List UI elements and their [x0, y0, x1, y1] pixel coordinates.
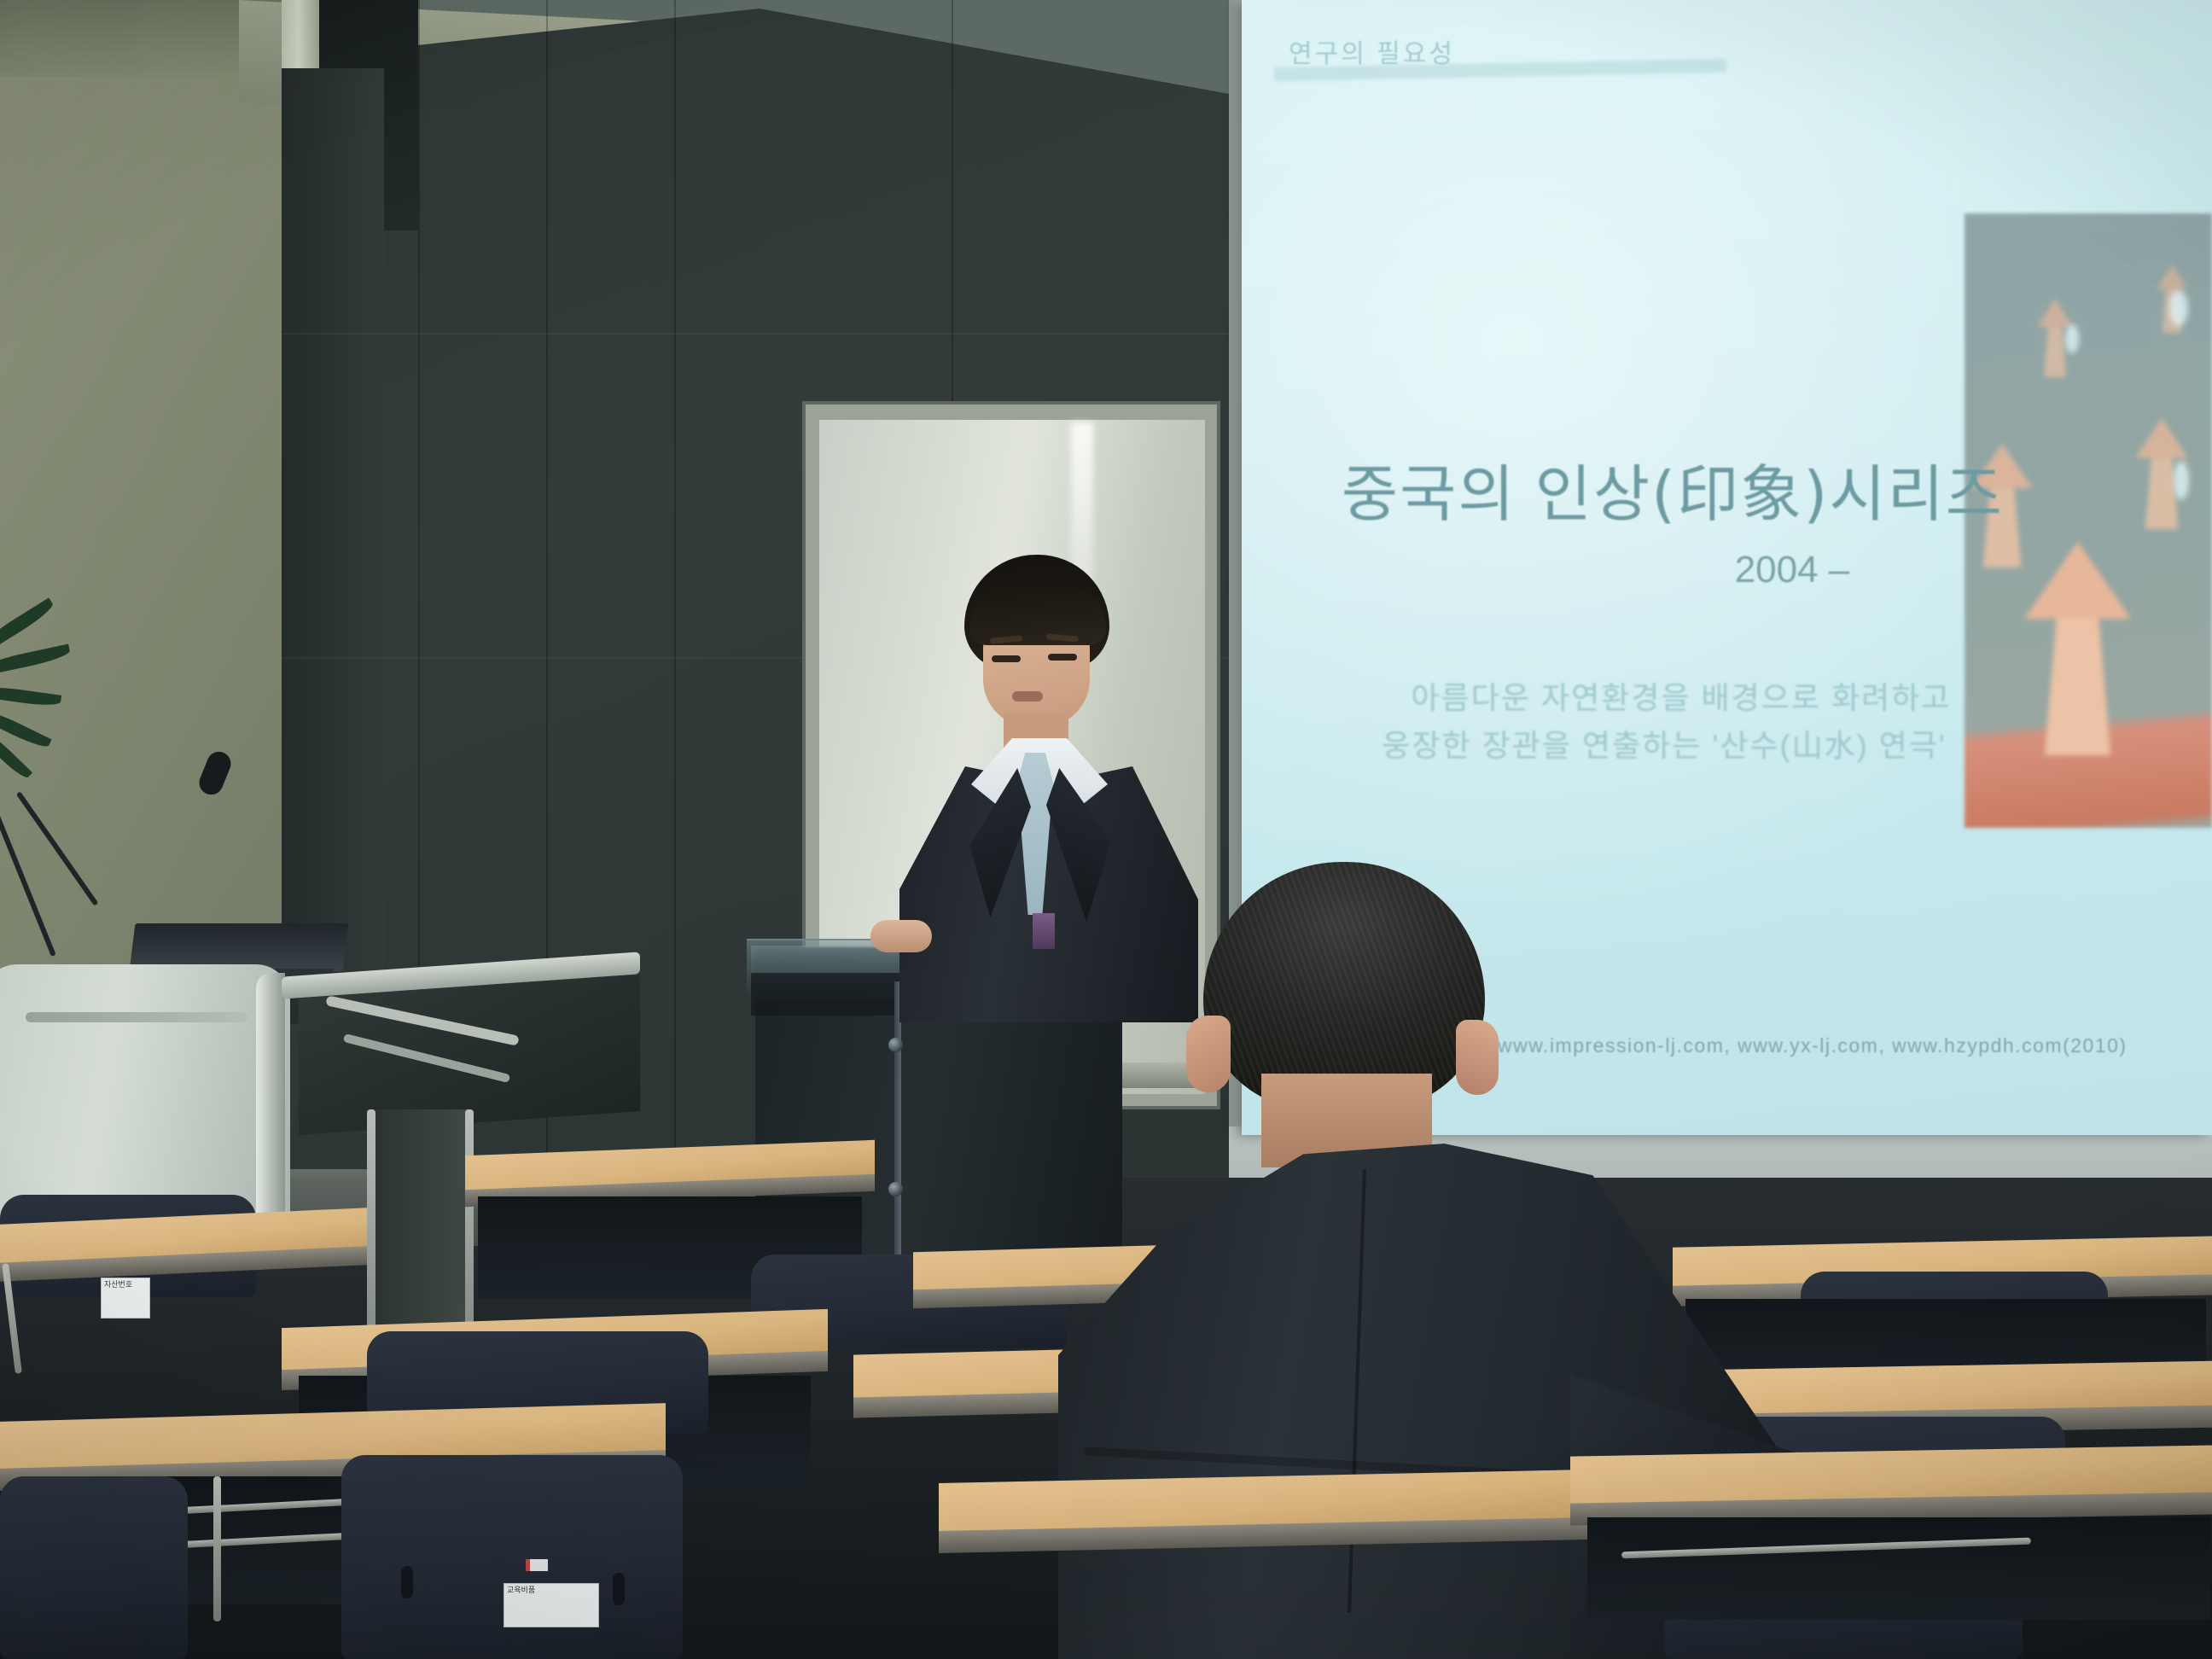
stage-light-sparkle	[2169, 290, 2188, 326]
slide-title-hanja: (印象)	[1651, 458, 1829, 530]
slide-title: 중국의 인상(印象)시리즈	[1242, 444, 2104, 533]
slide-year: 2004 –	[1242, 549, 2104, 591]
wall-panel-seam	[674, 0, 676, 1280]
presenter-fringe	[969, 584, 1106, 645]
presenter-eye	[992, 655, 1021, 662]
performer-body	[2145, 458, 2178, 529]
performer-body	[2044, 327, 2066, 377]
chair-backrest-notch	[613, 1573, 625, 1605]
conical-hat-icon	[2135, 418, 2188, 458]
audience-hair-texture	[1203, 862, 1485, 1109]
stage-light-sparkle	[2065, 324, 2079, 353]
leaf	[0, 644, 71, 676]
presenter-mouth	[1012, 691, 1043, 701]
presenter-hand	[870, 920, 932, 952]
audience-ear	[1186, 1016, 1231, 1092]
chair-asset-sticker: 교육비품	[504, 1583, 599, 1627]
lectern-bolt	[888, 1038, 903, 1052]
lectern-front-seam	[894, 981, 901, 1263]
lectern-bolt	[888, 1182, 903, 1196]
slide-title-block: 중국의 인상(印象)시리즈 2004 –	[1242, 444, 2104, 591]
presenter-lanyard-badge	[1033, 913, 1055, 949]
desk-leg	[213, 1476, 221, 1621]
lectern-shelf	[751, 973, 905, 1016]
chair: 교육비품	[341, 1455, 683, 1659]
stage-light-sparkle	[2174, 461, 2189, 500]
leaf	[0, 684, 61, 708]
dark-pillar	[282, 68, 384, 1024]
wall-horizontal-seam	[282, 333, 1229, 335]
photograph-scene: 연구의 필요성 중국의 인상(印象)시리즈 2004 – 아름다운 자연환경을 …	[0, 0, 2212, 1659]
slide-title-korean-left: 중국의 인상	[1342, 461, 1651, 529]
chair-asset-sticker: 자산번호	[101, 1278, 150, 1318]
slide-subtitle-block: 아름다운 자연환경을 배경으로 화려하고 웅장한 장관을 연출하는 '산수(山水…	[1242, 674, 2121, 770]
slide-subtitle-line-2: 웅장한 장관을 연출하는 '산수(山水) 연극'	[1242, 722, 2121, 770]
presenter-eye	[1048, 654, 1077, 661]
conical-hat-icon	[2037, 299, 2073, 327]
leaf	[0, 707, 52, 751]
conical-hat-icon	[2157, 265, 2187, 289]
audience-ear	[1456, 1020, 1499, 1095]
chair	[0, 1476, 188, 1659]
chair-backrest-notch	[401, 1566, 413, 1598]
chair-tag	[526, 1559, 548, 1571]
desk-understructure	[1587, 1517, 2210, 1620]
plant-foliage	[0, 632, 85, 768]
slide-title-korean-right: 시리즈	[1829, 461, 2004, 529]
av-console-vent	[26, 1012, 247, 1022]
slide-subtitle-line-1: 아름다운 자연환경을 배경으로 화려하고	[1242, 674, 2121, 722]
